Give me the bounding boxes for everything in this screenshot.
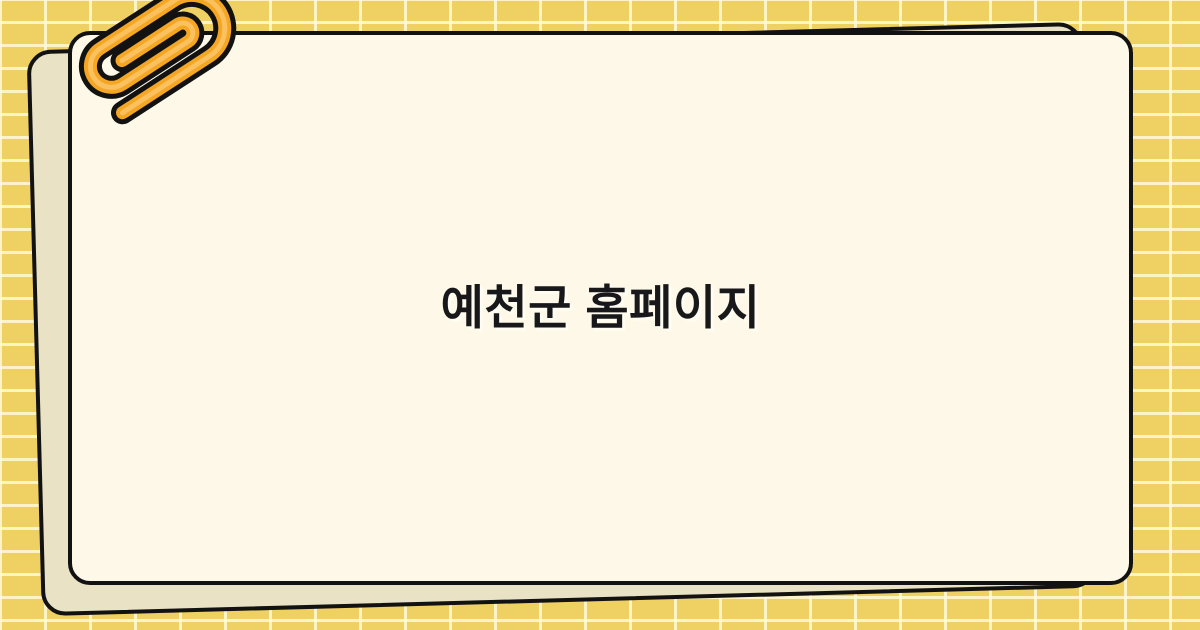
front-paper-card: 예천군 홈페이지	[68, 31, 1133, 585]
page-title: 예천군 홈페이지	[441, 280, 761, 336]
share-card-canvas: 예천군 홈페이지	[0, 0, 1200, 630]
